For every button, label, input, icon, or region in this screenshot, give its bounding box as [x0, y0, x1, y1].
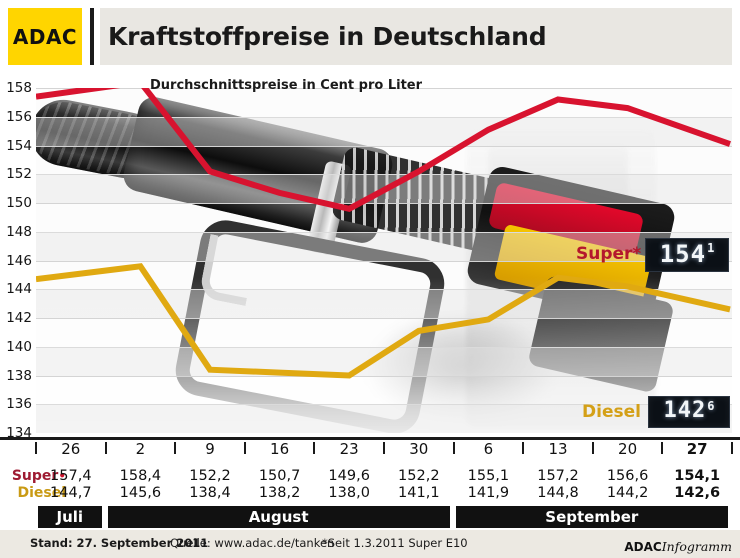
legend-label-super: Super* — [576, 244, 641, 264]
title-bar: Kraftstoffpreise in Deutschland — [100, 8, 732, 65]
adac-logo: ADAC — [8, 8, 82, 65]
table-cell-diesel: 144,2 — [593, 485, 663, 501]
x-axis-date-23: 23 — [314, 440, 384, 458]
x-axis-date-16: 16 — [245, 440, 315, 458]
month-bar-juli: Juli — [38, 506, 102, 528]
footer-brand: ADACInfogramm — [624, 536, 732, 555]
x-axis-date-20: 20 — [593, 440, 663, 458]
table-cell-super: 157,2 — [523, 468, 593, 484]
x-axis-date-6: 6 — [453, 440, 523, 458]
y-tick-label-146: 146 — [2, 253, 32, 269]
month-bar-label: August — [249, 508, 309, 526]
legend-label-diesel: Diesel — [582, 402, 641, 422]
lcd-display-diesel: 142 6 — [648, 396, 730, 428]
table-cell-diesel: 142,6 — [662, 485, 732, 501]
footer-source: Quelle: www.adac.de/tanken — [170, 536, 334, 550]
y-tick-label-150: 150 — [2, 195, 32, 211]
y-tick-label-144: 144 — [2, 281, 32, 297]
y-tick-label-156: 156 — [2, 109, 32, 125]
y-tick-label-152: 152 — [2, 166, 32, 182]
lcd-display-super: 154 1 — [645, 238, 729, 272]
table-cell-diesel: 144,8 — [523, 485, 593, 501]
table-cell-super: 150,7 — [245, 468, 315, 484]
header: ADAC Kraftstoffpreise in Deutschland — [0, 0, 740, 72]
footer-note: *Seit 1.3.2011 Super E10 — [322, 536, 468, 550]
month-bar-label: Juli — [57, 508, 84, 526]
table-cell-super: 152,2 — [384, 468, 454, 484]
table-cell-diesel: 144,7 — [36, 485, 106, 501]
x-axis-date-26: 26 — [36, 440, 106, 458]
x-axis-date-13: 13 — [523, 440, 593, 458]
month-bar-label: September — [545, 508, 638, 526]
table-cell-diesel: 138,2 — [245, 485, 315, 501]
table-cell-diesel: 145,6 — [105, 485, 175, 501]
x-axis-date-labels: 26291623306132027 — [0, 440, 740, 460]
table-cell-super: 155,1 — [453, 468, 523, 484]
lcd-super-decimal: 1 — [707, 241, 714, 255]
lcd-super-value: 154 — [660, 239, 706, 269]
month-bars: JuliAugustSeptember — [0, 506, 740, 528]
footer: Stand: 27. September 2011 Quelle: www.ad… — [0, 530, 740, 558]
y-tick-label-140: 140 — [2, 339, 32, 355]
table-cell-diesel: 141,1 — [384, 485, 454, 501]
table-cell-super: 152,2 — [175, 468, 245, 484]
y-tick-label-148: 148 — [2, 224, 32, 240]
x-axis-date-30: 30 — [384, 440, 454, 458]
x-axis-date-2: 2 — [105, 440, 175, 458]
page-title: Kraftstoffpreise in Deutschland — [100, 22, 546, 51]
y-tick-label-142: 142 — [2, 310, 32, 326]
y-tick-label-158: 158 — [2, 80, 32, 96]
month-bar-august: August — [108, 506, 450, 528]
lcd-diesel-value: 142 — [664, 397, 707, 425]
header-divider — [90, 8, 94, 65]
month-bar-september: September — [456, 506, 728, 528]
table-cell-super: 157,4 — [36, 468, 106, 484]
chart-area: 158156154152150148146144142140138136134 … — [0, 72, 740, 440]
table-cell-super: 149,6 — [314, 468, 384, 484]
table-cell-diesel: 138,4 — [175, 485, 245, 501]
lcd-diesel-decimal: 6 — [707, 399, 714, 413]
table-cell-diesel: 138,0 — [314, 485, 384, 501]
table-cell-super: 154,1 — [662, 468, 732, 484]
footer-brand-adac: ADAC — [624, 540, 661, 554]
table-cell-super: 156,6 — [593, 468, 663, 484]
y-tick-label-138: 138 — [2, 368, 32, 384]
infographic-root: ADAC Kraftstoffpreise in Deutschland — [0, 0, 740, 558]
x-axis-date-9: 9 — [175, 440, 245, 458]
chart-subtitle: Durchschnittspreise in Cent pro Liter — [150, 78, 422, 93]
table-cell-super: 158,4 — [105, 468, 175, 484]
footer-brand-infogramm: Infogramm — [662, 539, 732, 554]
x-axis-date-27: 27 — [662, 440, 732, 458]
table-cell-diesel: 141,9 — [453, 485, 523, 501]
y-tick-label-136: 136 — [2, 396, 32, 412]
y-tick-label-154: 154 — [2, 138, 32, 154]
adac-logo-text: ADAC — [13, 27, 77, 47]
